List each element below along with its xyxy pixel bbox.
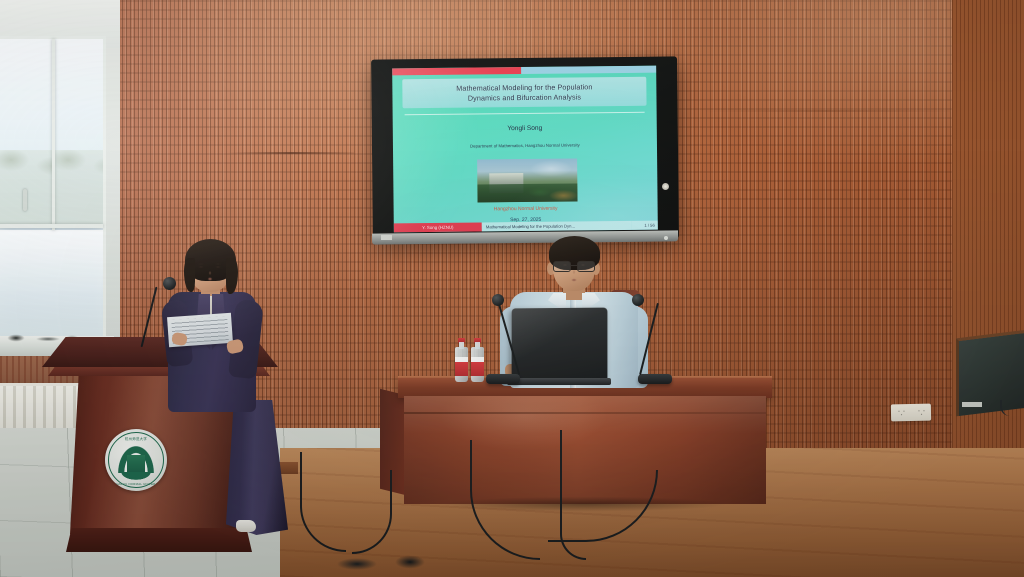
campus-foliage — [477, 183, 577, 202]
slide-footer-title: Mathematical Modeling for the Population… — [482, 221, 632, 232]
window-pane-lower — [0, 230, 103, 338]
seal-building — [127, 455, 145, 473]
glass-haze-3 — [0, 230, 103, 338]
host-shoe — [236, 520, 256, 532]
slide-title-line-2: Dynamics and Bifurcation Analysis — [468, 92, 581, 103]
slide-footer-author: Y. Song (HZNU) — [394, 222, 482, 232]
outlet-socket-left[interactable] — [895, 408, 906, 417]
water-bottle-2[interactable] — [471, 338, 484, 382]
window-mullion-horizontal — [0, 224, 103, 228]
lens-right — [577, 261, 595, 272]
window-pane-upper-right — [54, 39, 103, 224]
bottle-label-red — [455, 362, 468, 376]
glasses-bridge — [571, 265, 577, 266]
display-power-led — [664, 236, 668, 240]
corner-monitor-cable — [1000, 400, 1018, 416]
window — [0, 36, 106, 341]
window-mullion-vertical — [52, 39, 55, 230]
wall-display[interactable]: Mathematical Modeling for the Population… — [371, 56, 679, 241]
desk-panel-groove — [404, 412, 766, 414]
slide-banner-red — [392, 67, 521, 75]
seal-text-english: HANGZHOU NORMAL UNIVERSITY — [105, 482, 167, 486]
cable-coil-1 — [330, 556, 384, 572]
mic-head-left[interactable] — [492, 294, 504, 306]
seal-text-chinese: 杭州师范大学 — [105, 436, 167, 441]
mic-base-right[interactable] — [638, 374, 672, 384]
floor-cable-5 — [560, 430, 586, 560]
corner-monitor-mount — [962, 402, 982, 407]
outlet-socket-right[interactable] — [915, 408, 926, 417]
slide-affiliation: Department of Mathematics, Hangzhou Norm… — [393, 142, 657, 150]
window-handle[interactable] — [23, 189, 27, 211]
glass-haze-2 — [54, 39, 103, 224]
bottle-label-red-2 — [471, 362, 484, 376]
display-corner-dot — [662, 183, 669, 190]
laptop-lid-highlight — [511, 308, 607, 380]
slide-banner-blue — [522, 66, 657, 74]
slide-divider — [405, 112, 645, 116]
water-bottle-1[interactable] — [455, 338, 468, 382]
host-face — [190, 246, 230, 292]
wall-outlet-plate[interactable] — [891, 404, 931, 422]
university-seal-icon: 杭州师范大学 HANGZHOU NORMAL UNIVERSITY — [105, 429, 167, 491]
slide-top-banner — [392, 66, 656, 76]
eyeglasses-icon — [551, 261, 597, 273]
slide-university-caption: Hangzhou Normal University — [394, 205, 658, 214]
slide-campus-photo — [477, 158, 577, 202]
wall-panel-seam-2 — [700, 110, 950, 112]
cable-coil-2 — [390, 553, 430, 571]
wall-panel-seam — [228, 152, 354, 154]
slide-title-block: Mathematical Modeling for the Population… — [402, 77, 646, 109]
display-ir-sensor — [381, 235, 392, 240]
seal-book — [119, 472, 153, 481]
slide-footer-page: 1 / 56 — [632, 221, 658, 230]
presentation-slide: Mathematical Modeling for the Population… — [392, 66, 658, 233]
podium-base — [66, 528, 252, 552]
presentation-room-photo: Mathematical Modeling for the Population… — [0, 0, 1024, 577]
slide-author: Yongli Song — [393, 124, 657, 134]
mic-base-left[interactable] — [486, 374, 520, 384]
mic-head-right[interactable] — [632, 294, 644, 306]
podium-microphone-head[interactable] — [163, 277, 176, 290]
lens-left — [553, 261, 571, 272]
laptop-base[interactable] — [507, 378, 611, 385]
display-control-strip[interactable] — [498, 234, 556, 241]
